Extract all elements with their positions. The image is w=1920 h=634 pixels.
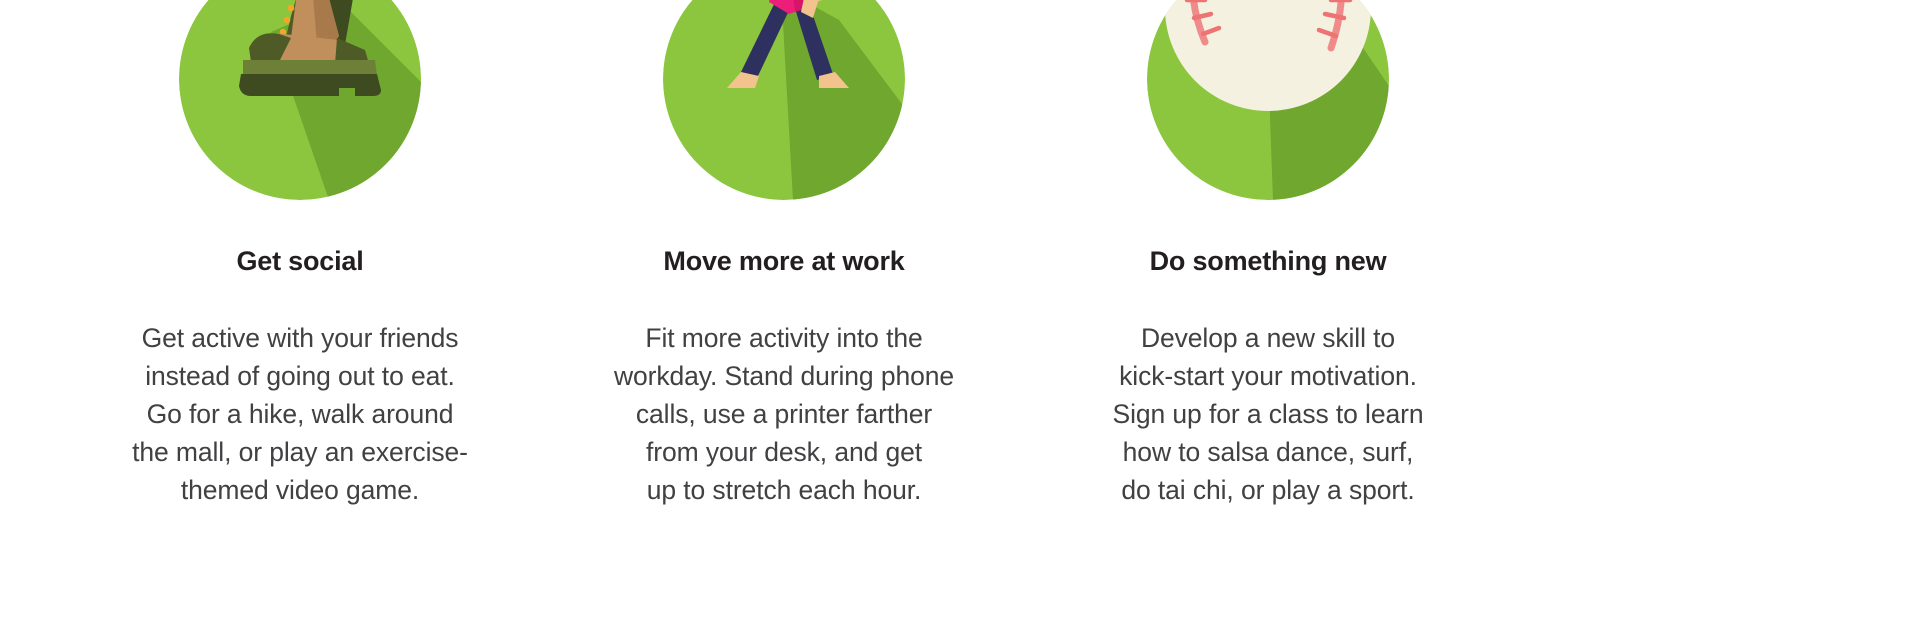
hiking-boot-badge (179, 0, 421, 200)
baseball-badge (1147, 0, 1389, 200)
baseball-icon (1147, 0, 1389, 200)
tips-row: Get social Get active with your friends … (0, 0, 1920, 634)
tip-card-do-something-new: Do something new Develop a new skill to … (1026, 0, 1510, 634)
yoga-triangle-pose-icon (663, 0, 905, 200)
tip-title: Move more at work (663, 248, 904, 275)
tip-card-move-more-at-work: Move more at work Fit more activity into… (542, 0, 1026, 634)
hiking-boot-icon (179, 0, 421, 200)
tip-body: Develop a new skill to kick-start your m… (1053, 319, 1483, 509)
tip-title: Do something new (1150, 248, 1387, 275)
tip-card-get-social: Get social Get active with your friends … (58, 0, 542, 634)
tip-title: Get social (236, 248, 363, 275)
yoga-triangle-pose-badge (663, 0, 905, 200)
tip-body: Fit more activity into the workday. Stan… (569, 319, 999, 509)
tip-body: Get active with your friends instead of … (85, 319, 515, 509)
healthy-activity-tips-infographic: Get social Get active with your friends … (0, 0, 1920, 634)
